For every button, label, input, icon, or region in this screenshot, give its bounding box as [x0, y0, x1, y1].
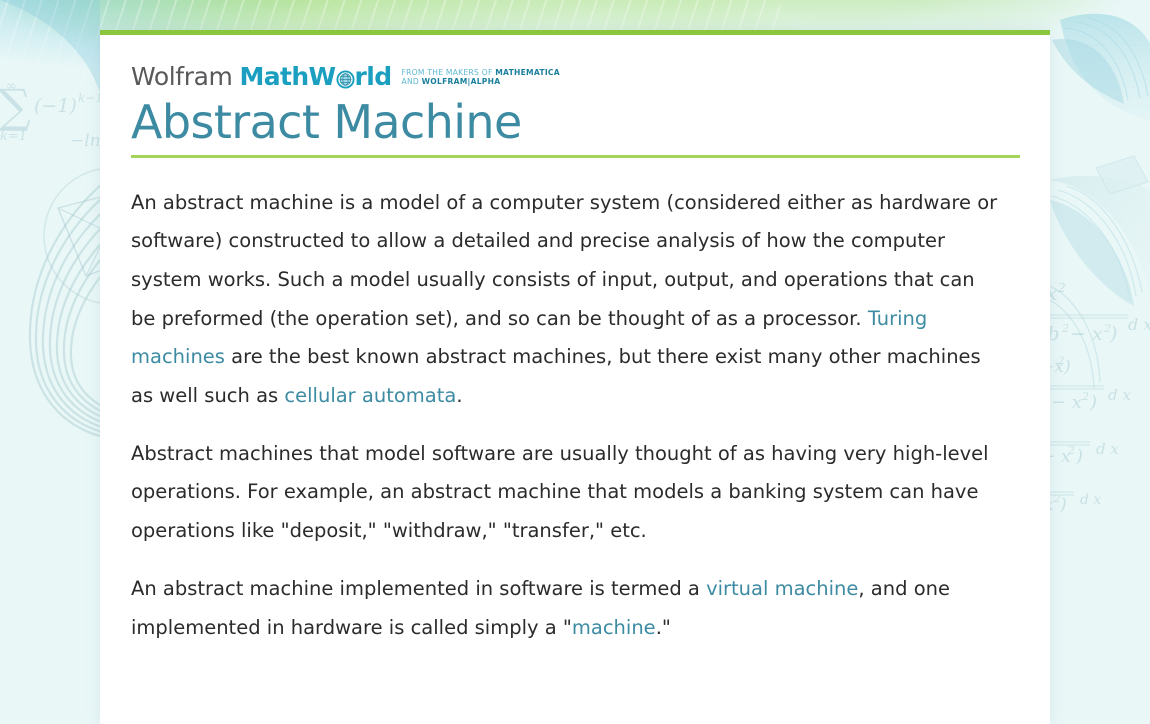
globe-icon [336, 68, 355, 87]
logo-tagline: FROM THE MAKERS OF MATHEMATICA AND WOLFR… [402, 69, 560, 89]
paragraph-2: Abstract machines that model software ar… [131, 435, 1002, 551]
svg-text:− x: − x [1070, 323, 1103, 345]
content-card: Wolfram MathW [100, 30, 1050, 724]
svg-text:d x: d x [1128, 315, 1150, 334]
logo-wolfram-text: Wolfram [131, 64, 232, 89]
svg-text:2: 2 [1081, 390, 1089, 403]
site-logo[interactable]: Wolfram MathW [131, 61, 1002, 89]
article-body: An abstract machine is a model of a comp… [131, 184, 1002, 648]
paragraph-1-text-c: . [456, 384, 462, 407]
link-cellular-automata[interactable]: cellular automata [284, 384, 456, 407]
link-machine[interactable]: machine [572, 616, 656, 639]
title-divider [131, 155, 1020, 158]
svg-text:): ) [1089, 392, 1097, 413]
svg-text:d x: d x [1080, 492, 1101, 508]
svg-text:2: 2 [1061, 322, 1069, 335]
svg-text:): ) [1109, 323, 1117, 345]
logo-tagline-line-2: AND WOLFRAM|ALPHA [402, 78, 560, 87]
paragraph-3-text-c: ." [656, 616, 671, 639]
page-title: Abstract Machine [131, 95, 1002, 155]
paragraph-1-text-b: are the best known abstract machines, bu… [131, 345, 981, 407]
logo-mathworld-suffix: rld [355, 64, 392, 89]
link-virtual-machine[interactable]: virtual machine [706, 577, 858, 600]
svg-text:): ) [1063, 357, 1071, 377]
svg-text:k=1: k=1 [0, 129, 27, 144]
svg-text:): ) [1075, 446, 1083, 467]
logo-mathworld-prefix: MathW [239, 64, 335, 89]
paragraph-1: An abstract machine is a model of a comp… [131, 184, 1002, 416]
paragraph-3-text-a: An abstract machine implemented in softw… [131, 577, 706, 600]
svg-text:2: 2 [1057, 281, 1066, 295]
paragraph-3: An abstract machine implemented in softw… [131, 570, 1002, 647]
svg-text:d x: d x [1096, 440, 1119, 458]
svg-text:2: 2 [1067, 444, 1075, 457]
svg-text:(−1): (−1) [34, 95, 77, 117]
svg-text:d x: d x [1108, 386, 1131, 404]
svg-text:): ) [1059, 495, 1067, 515]
logo-mathworld-text: MathW rld [239, 64, 391, 89]
background-right-decoration: x 2 (b 2 − x 2 ) d x −x 2 ) ² − x 2 ) d … [1036, 14, 1150, 515]
svg-text:−ln: −ln [70, 131, 101, 151]
svg-text:∞: ∞ [6, 79, 17, 94]
